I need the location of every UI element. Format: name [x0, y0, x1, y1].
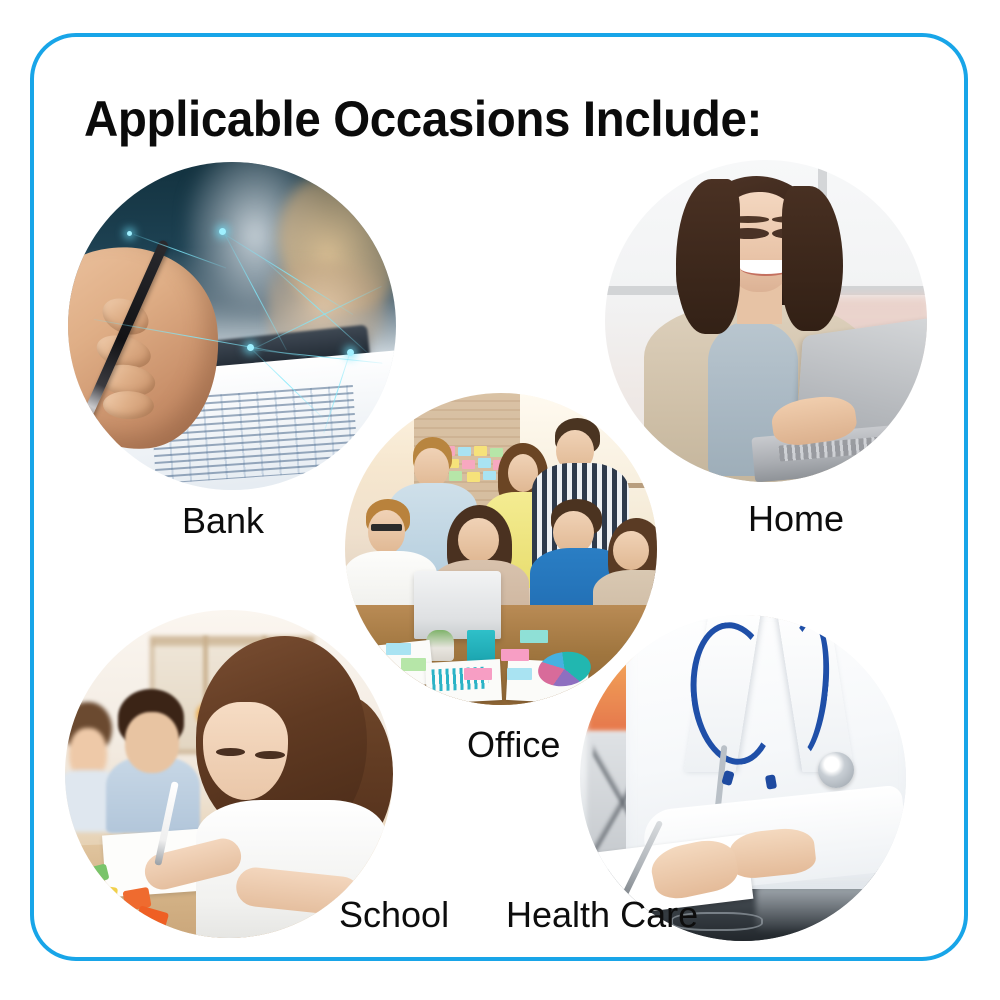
- occasion-circle-school: [65, 610, 393, 938]
- stethoscope-chestpiece: [818, 752, 854, 788]
- occasion-label-office: Office: [467, 724, 560, 766]
- network-node: [247, 344, 254, 351]
- network-node: [347, 349, 354, 356]
- applicable-occasions-poster: Applicable Occasions Include:: [0, 0, 1000, 1000]
- girl-eye: [255, 751, 285, 759]
- sticky-note: [507, 668, 532, 680]
- occasion-label-health-care: Health Care: [506, 894, 698, 936]
- stethoscope-earpiece: [765, 774, 777, 790]
- desk-reflection: [756, 886, 886, 932]
- girl-eye: [216, 748, 246, 756]
- occasion-label-school: School: [339, 894, 449, 936]
- sticky-note: [520, 630, 548, 642]
- bank-finger: [103, 391, 155, 421]
- school-boy: [111, 689, 196, 820]
- glasses-icon: [371, 524, 402, 531]
- boy-face: [125, 712, 180, 772]
- occasion-label-home: Home: [748, 498, 844, 540]
- occasion-circle-health-care: [580, 615, 906, 941]
- sticky-note: [464, 668, 492, 680]
- sticky-note: [501, 649, 529, 661]
- sticky-note: [401, 658, 426, 670]
- network-node: [219, 228, 226, 235]
- occasion-label-bank: Bank: [182, 500, 264, 542]
- health-care-scene: [580, 615, 906, 941]
- school-scene: [65, 610, 393, 938]
- foam-letter: [90, 884, 118, 904]
- page-title: Applicable Occasions Include:: [84, 93, 762, 145]
- network-node: [127, 231, 132, 236]
